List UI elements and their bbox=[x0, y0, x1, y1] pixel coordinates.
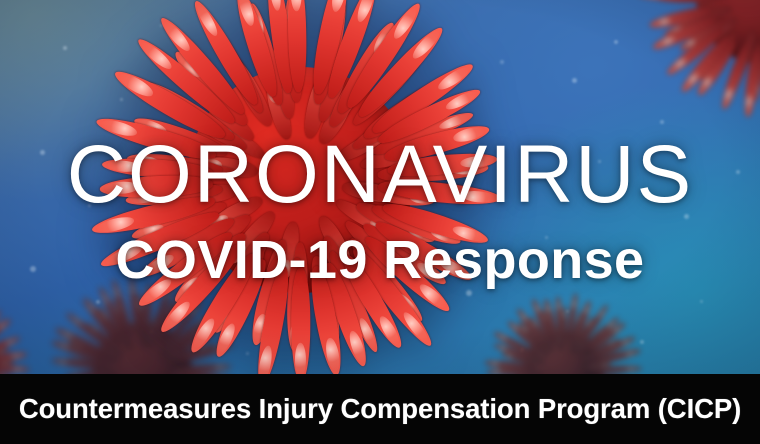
page-title: CORONAVIRUS bbox=[0, 133, 760, 217]
dust-particle bbox=[63, 46, 67, 50]
program-name-label: Countermeasures Injury Compensation Prog… bbox=[19, 393, 741, 425]
virus-spike bbox=[596, 366, 642, 373]
page-subtitle: COVID-19 Response bbox=[0, 231, 760, 289]
dust-particle bbox=[640, 340, 644, 344]
dust-particle bbox=[572, 78, 577, 83]
coronavirus-particle-icon bbox=[492, 300, 634, 374]
dust-particle bbox=[466, 290, 472, 296]
coronavirus-particle-icon bbox=[0, 292, 22, 374]
dust-particle bbox=[660, 120, 664, 124]
dust-particle bbox=[700, 300, 703, 303]
covid-banner: CORONAVIRUS COVID-19 Response Countermea… bbox=[0, 0, 760, 444]
coronavirus-particle-icon bbox=[648, 0, 760, 112]
dust-particle bbox=[500, 60, 504, 64]
dust-particle bbox=[614, 40, 618, 44]
virus-spike bbox=[0, 365, 28, 373]
caption-bar: Countermeasures Injury Compensation Prog… bbox=[0, 374, 760, 444]
